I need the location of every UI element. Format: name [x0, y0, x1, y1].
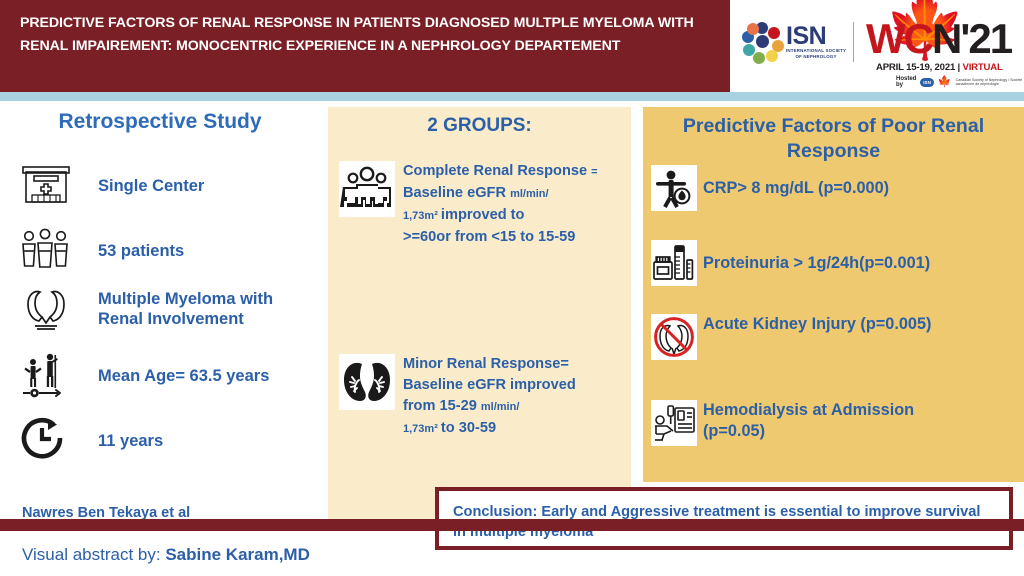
- conclusion-text: Conclusion: Early and Aggressive treatme…: [439, 491, 1009, 542]
- factor-label: Proteinuria > 1g/24h(p=0.001): [703, 253, 930, 274]
- group-line4-units: 1,73m²: [403, 423, 441, 435]
- kidneys-outline-icon: [18, 284, 74, 334]
- clock-history-icon: [18, 416, 74, 466]
- group-text: Complete Renal Response = Baseline eGFR …: [403, 161, 618, 248]
- accent-band: [0, 92, 1024, 101]
- group-line3: improved to: [441, 207, 525, 223]
- isn-logo: ISN INTERNATIONAL SOCIETY OF NEPHROLOGY: [742, 22, 860, 62]
- group-minor-renal-response: Minor Renal Response= Baseline eGFR impr…: [339, 354, 618, 440]
- factor-proteinuria: Proteinuria > 1g/24h(p=0.001): [651, 240, 930, 286]
- host-maple-icon: 🍁: [938, 78, 952, 87]
- left-row-single-center: Single Center: [18, 161, 204, 211]
- page-title: PREDICTIVE FACTORS OF RENAL RESPONSE IN …: [20, 12, 720, 58]
- right-column: Predictive Factors of Poor Renal Respons…: [643, 107, 1024, 482]
- group-line1: Complete Renal Response: [403, 163, 591, 179]
- inflammation-person-icon: [651, 165, 697, 211]
- conference-logo-block: 🍁 ISN INTERNATIONAL SOCIETY OF NEPHROLOG…: [730, 0, 1024, 92]
- middle-column-heading: 2 GROUPS:: [328, 115, 631, 137]
- factor-label: Acute Kidney Injury (p=0.005): [703, 314, 933, 335]
- isn-name: ISN: [786, 25, 846, 48]
- kidneys-filled-icon: [339, 354, 395, 410]
- urine-sample-icon: [651, 240, 697, 286]
- wcn-wordmark: WCN'21: [866, 18, 1011, 60]
- host-society-name: Canadian Society of Nephrology / Société…: [956, 78, 1024, 86]
- hosted-by-label: Hosted by: [896, 76, 916, 88]
- dialysis-icon: [651, 400, 697, 446]
- left-row-label: 11 years: [98, 431, 163, 451]
- group-line3: from 15-29: [403, 398, 481, 414]
- wcn-letter-n: N: [932, 15, 960, 62]
- left-column: Retrospective Study Single Center: [0, 101, 328, 519]
- middle-column: 2 GROUPS: Complete Renal Response = Ba: [328, 107, 631, 519]
- patients-group-icon: [18, 226, 74, 276]
- visual-abstract-credit: Visual abstract by: Sabine Karam,MD: [22, 545, 310, 565]
- factor-aki: Acute Kidney Injury (p=0.005): [651, 314, 933, 360]
- group-line1-eq: =: [591, 166, 597, 178]
- isn-sub-line1: INTERNATIONAL SOCIETY: [786, 48, 846, 54]
- factor-crp: CRP> 8 mg/dL (p=0.000): [651, 165, 889, 211]
- left-row-label: Single Center: [98, 176, 204, 196]
- group-line2: Baseline eGFR: [403, 185, 510, 201]
- logo-divider: [853, 22, 854, 62]
- hospital-icon: [18, 161, 74, 211]
- left-column-heading: Retrospective Study: [0, 110, 320, 134]
- conference-date: APRIL 15-19, 2021 | VIRTUAL: [876, 62, 1003, 73]
- group-line4: >=60or from <15 to 15-59: [403, 229, 575, 245]
- people-group-icon: [339, 161, 395, 217]
- host-badge: ISN: [920, 78, 934, 87]
- no-kidney-icon: [651, 314, 697, 360]
- group-line2: Baseline eGFR improved: [403, 377, 576, 393]
- visual-abstract-prefix: Visual abstract by:: [22, 545, 165, 564]
- isn-sub-line2: OF NEPHROLOGY: [786, 54, 846, 60]
- group-complete-renal-response: Complete Renal Response = Baseline eGFR …: [339, 161, 618, 248]
- group-line2-units: ml/min/: [510, 188, 549, 200]
- page-header: PREDICTIVE FACTORS OF RENAL RESPONSE IN …: [0, 0, 1024, 92]
- left-row-mean-age: Mean Age= 63.5 years: [18, 351, 269, 401]
- footer-bar: [0, 519, 1024, 531]
- left-row-duration: 11 years: [18, 416, 163, 466]
- factor-label: Hemodialysis at Admission (p=0.05): [703, 400, 965, 442]
- wcn-letter-c: C: [904, 15, 932, 62]
- wcn-letter-w: W: [866, 15, 904, 62]
- group-line3-units: ml/min/: [481, 401, 520, 413]
- hosted-by-block: Hosted by ISN 🍁 Canadian Society of Neph…: [896, 76, 1024, 88]
- isn-ring-icon: [742, 22, 782, 62]
- factor-hemodialysis: Hemodialysis at Admission (p=0.05): [651, 400, 965, 446]
- left-row-myeloma: Multiple Myeloma with Renal Involvement: [18, 284, 313, 334]
- group-line4: to 30-59: [441, 420, 496, 436]
- conference-date-text: APRIL 15-19, 2021 |: [876, 62, 963, 73]
- left-row-patients: 53 patients: [18, 226, 184, 276]
- group-line1: Minor Renal Response=: [403, 356, 569, 372]
- left-row-label: Multiple Myeloma with Renal Involvement: [98, 289, 313, 329]
- factor-label: CRP> 8 mg/dL (p=0.000): [703, 178, 889, 199]
- left-row-label: Mean Age= 63.5 years: [98, 366, 269, 386]
- group-text: Minor Renal Response= Baseline eGFR impr…: [403, 354, 618, 440]
- visual-abstract-author: Sabine Karam,MD: [165, 545, 310, 564]
- right-column-heading: Predictive Factors of Poor Renal Respons…: [653, 114, 1014, 164]
- age-people-icon: [18, 351, 74, 401]
- wcn-year: '21: [960, 15, 1011, 62]
- conference-virtual-tag: VIRTUAL: [963, 62, 1003, 73]
- left-row-label: 53 patients: [98, 241, 184, 261]
- group-line3-units: 1,73m²: [403, 210, 441, 222]
